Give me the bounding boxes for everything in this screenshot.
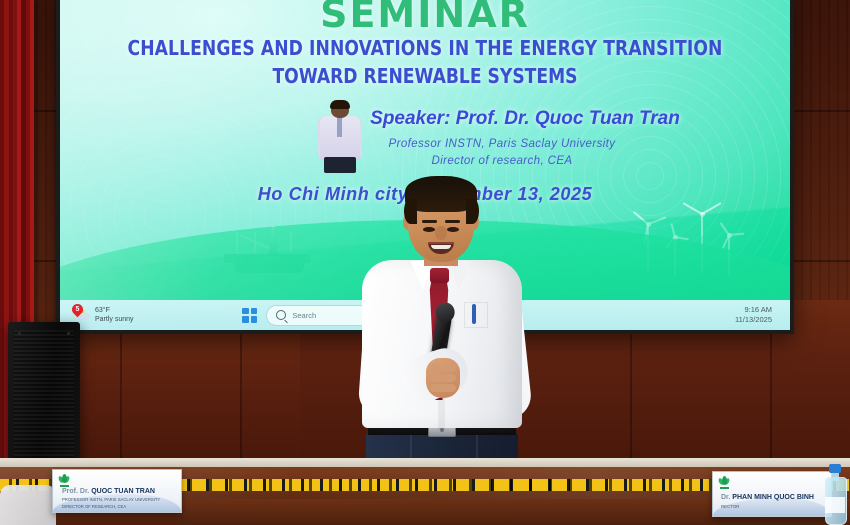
- weather-condition: Partly sunny: [95, 315, 134, 324]
- partly-sunny-icon: 5: [74, 307, 91, 324]
- slide-affiliation-1: Professor INSTN, Paris Saclay University: [292, 138, 712, 150]
- nameplate-name: QUOC TUAN TRAN: [91, 488, 155, 495]
- weather-temperature: 63°F: [95, 306, 134, 315]
- hand: [426, 358, 460, 398]
- nameplate-prefix: Prof. Dr.: [62, 488, 89, 495]
- windows-logo-icon[interactable]: [242, 308, 257, 323]
- search-icon: [276, 310, 286, 320]
- wall-baseboard: [0, 458, 850, 467]
- chair-back: [0, 485, 56, 525]
- university-logo-icon: [58, 474, 71, 487]
- nameplate-name: PHAN MINH QUOC BINH: [732, 494, 814, 501]
- slide-speaker-name: Speaker: Prof. Dr. Quoc Tuan Tran: [290, 108, 760, 130]
- university-logo-icon: [718, 476, 731, 489]
- notification-count: 5: [72, 304, 83, 315]
- nameplate-subtitle-2: DIRECTOR OF RESEARCH, CEA: [62, 504, 126, 509]
- nameplate-subtitle-1: RECTOR: [721, 504, 739, 509]
- notification-badge: 5: [70, 301, 86, 317]
- slide-title-line-1: CHALLENGES AND INNOVATIONS IN THE ENERGY…: [86, 36, 765, 60]
- search-placeholder: Search: [292, 311, 316, 320]
- tie-knot: [430, 268, 449, 283]
- taskbar-clock[interactable]: 9:16 AM 11/13/2025: [735, 305, 772, 325]
- slide-heading: SEMINAR: [60, 0, 790, 36]
- nameplate-right: Dr. PHAN MINH QUOC BINH RECTOR: [712, 471, 832, 517]
- nameplate-subtitle-1: PROFESSOR INSTN, PARIS SACLAY UNIVERSITY: [62, 497, 160, 502]
- nameplate-prefix: Dr.: [721, 494, 730, 501]
- slide-affiliation-2: Director of research, CEA: [292, 155, 712, 167]
- nameplate-left: Prof. Dr. QUOC TUAN TRAN PROFESSOR INSTN…: [52, 469, 182, 513]
- pen: [472, 304, 476, 324]
- pa-loudspeaker: [8, 322, 80, 472]
- taskbar-weather-widget[interactable]: 5 63°F Partly sunny: [74, 306, 134, 324]
- screenshot-root: SEMINAR CHALLENGES AND INNOVATIONS IN TH…: [0, 0, 850, 525]
- slide-title-line-2: TOWARD RENEWABLE SYSTEMS: [86, 64, 765, 88]
- shirt-pocket: [464, 302, 488, 328]
- clock-date: 11/13/2025: [735, 315, 772, 325]
- nose: [435, 226, 447, 240]
- clock-time: 9:16 AM: [735, 305, 772, 315]
- water-bottle: [825, 463, 845, 525]
